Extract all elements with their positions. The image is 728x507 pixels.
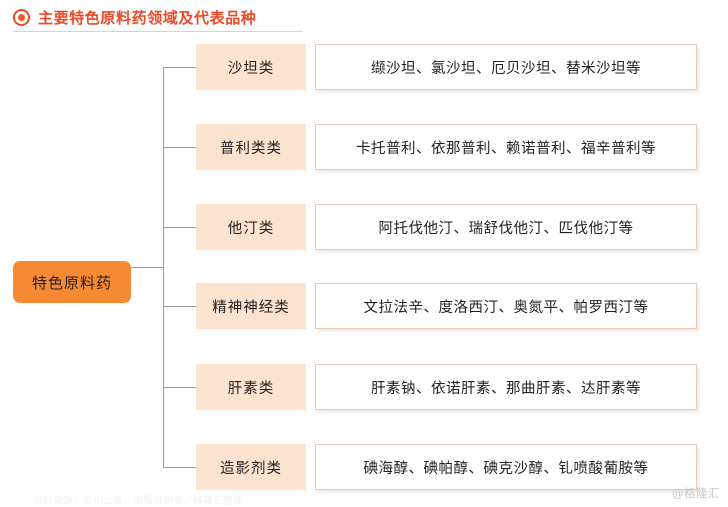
drug-list-label: 缬沙坦、氯沙坦、厄贝沙坦、替米沙坦等	[371, 57, 641, 78]
tree-root-label: 特色原料药	[32, 272, 112, 293]
header-divider	[13, 31, 303, 32]
drug-list-box: 缬沙坦、氯沙坦、厄贝沙坦、替米沙坦等	[315, 44, 697, 90]
drug-list-label: 卡托普利、依那普利、赖诺普利、福辛普利等	[356, 137, 656, 158]
tree-root-node: 特色原料药	[13, 261, 131, 303]
drug-list-box: 卡托普利、依那普利、赖诺普利、福辛普利等	[315, 124, 697, 170]
category-label: 普利类类	[220, 137, 282, 158]
category-box: 沙坦类	[196, 44, 306, 90]
category-box: 普利类类	[196, 124, 306, 170]
drug-list-label: 文拉法辛、度洛西汀、奥氮平、帕罗西汀等	[364, 296, 649, 317]
category-label: 沙坦类	[228, 57, 275, 78]
connector-branch-4	[163, 306, 196, 307]
category-label: 肝素类	[228, 377, 275, 398]
drug-list-label: 碘海醇、碘帕醇、碘克沙醇、钆喷酸葡胺等	[364, 457, 649, 478]
connector-root-horizontal	[131, 267, 163, 268]
drug-list-label: 肝素钠、依诺肝素、那曲肝素、达肝素等	[371, 377, 641, 398]
category-box: 造影剂类	[196, 444, 306, 490]
page-header: 主要特色原料药领域及代表品种	[0, 0, 728, 34]
drug-list-box: 肝素钠、依诺肝素、那曲肝素、达肝素等	[315, 364, 697, 410]
category-label: 精神神经类	[212, 296, 290, 317]
connector-branch-2	[163, 147, 196, 148]
category-box: 肝素类	[196, 364, 306, 410]
tree-diagram: 特色原料药 沙坦类 缬沙坦、氯沙坦、厄贝沙坦、替米沙坦等 普利类类 卡托普利、依…	[0, 34, 728, 507]
connector-branch-6	[163, 467, 196, 468]
category-box: 他汀类	[196, 204, 306, 250]
connector-branch-5	[163, 387, 196, 388]
drug-list-box: 阿托伐他汀、瑞舒伐他汀、匹伐他汀等	[315, 204, 697, 250]
drug-list-box: 文拉法辛、度洛西汀、奥氮平、帕罗西汀等	[315, 283, 697, 329]
category-label: 造影剂类	[220, 457, 282, 478]
connector-branch-1	[163, 67, 196, 68]
drug-list-box: 碘海醇、碘帕醇、碘克沙醇、钆喷酸葡胺等	[315, 444, 697, 490]
target-dot-icon	[13, 9, 30, 26]
tree-row: 普利类类 卡托普利、依那普利、赖诺普利、福辛普利等	[196, 124, 697, 170]
category-label: 他汀类	[228, 217, 275, 238]
tree-row: 造影剂类 碘海醇、碘帕醇、碘克沙醇、钆喷酸葡胺等	[196, 444, 697, 490]
page-title: 主要特色原料药领域及代表品种	[38, 7, 256, 28]
tree-row: 他汀类 阿托伐他汀、瑞舒伐他汀、匹伐他汀等	[196, 204, 697, 250]
tree-row: 沙坦类 缬沙坦、氯沙坦、厄贝沙坦、替米沙坦等	[196, 44, 697, 90]
connector-spine-vertical	[163, 67, 164, 468]
category-box: 精神神经类	[196, 283, 306, 329]
watermark: @格隆汇	[672, 485, 720, 501]
drug-list-label: 阿托伐他汀、瑞舒伐他汀、匹伐他汀等	[379, 217, 634, 238]
source-note: 资料来源：公司公告、招股说明书、格隆汇整理	[33, 492, 243, 507]
tree-row: 肝素类 肝素钠、依诺肝素、那曲肝素、达肝素等	[196, 364, 697, 410]
connector-branch-3	[163, 227, 196, 228]
tree-row: 精神神经类 文拉法辛、度洛西汀、奥氮平、帕罗西汀等	[196, 283, 697, 329]
